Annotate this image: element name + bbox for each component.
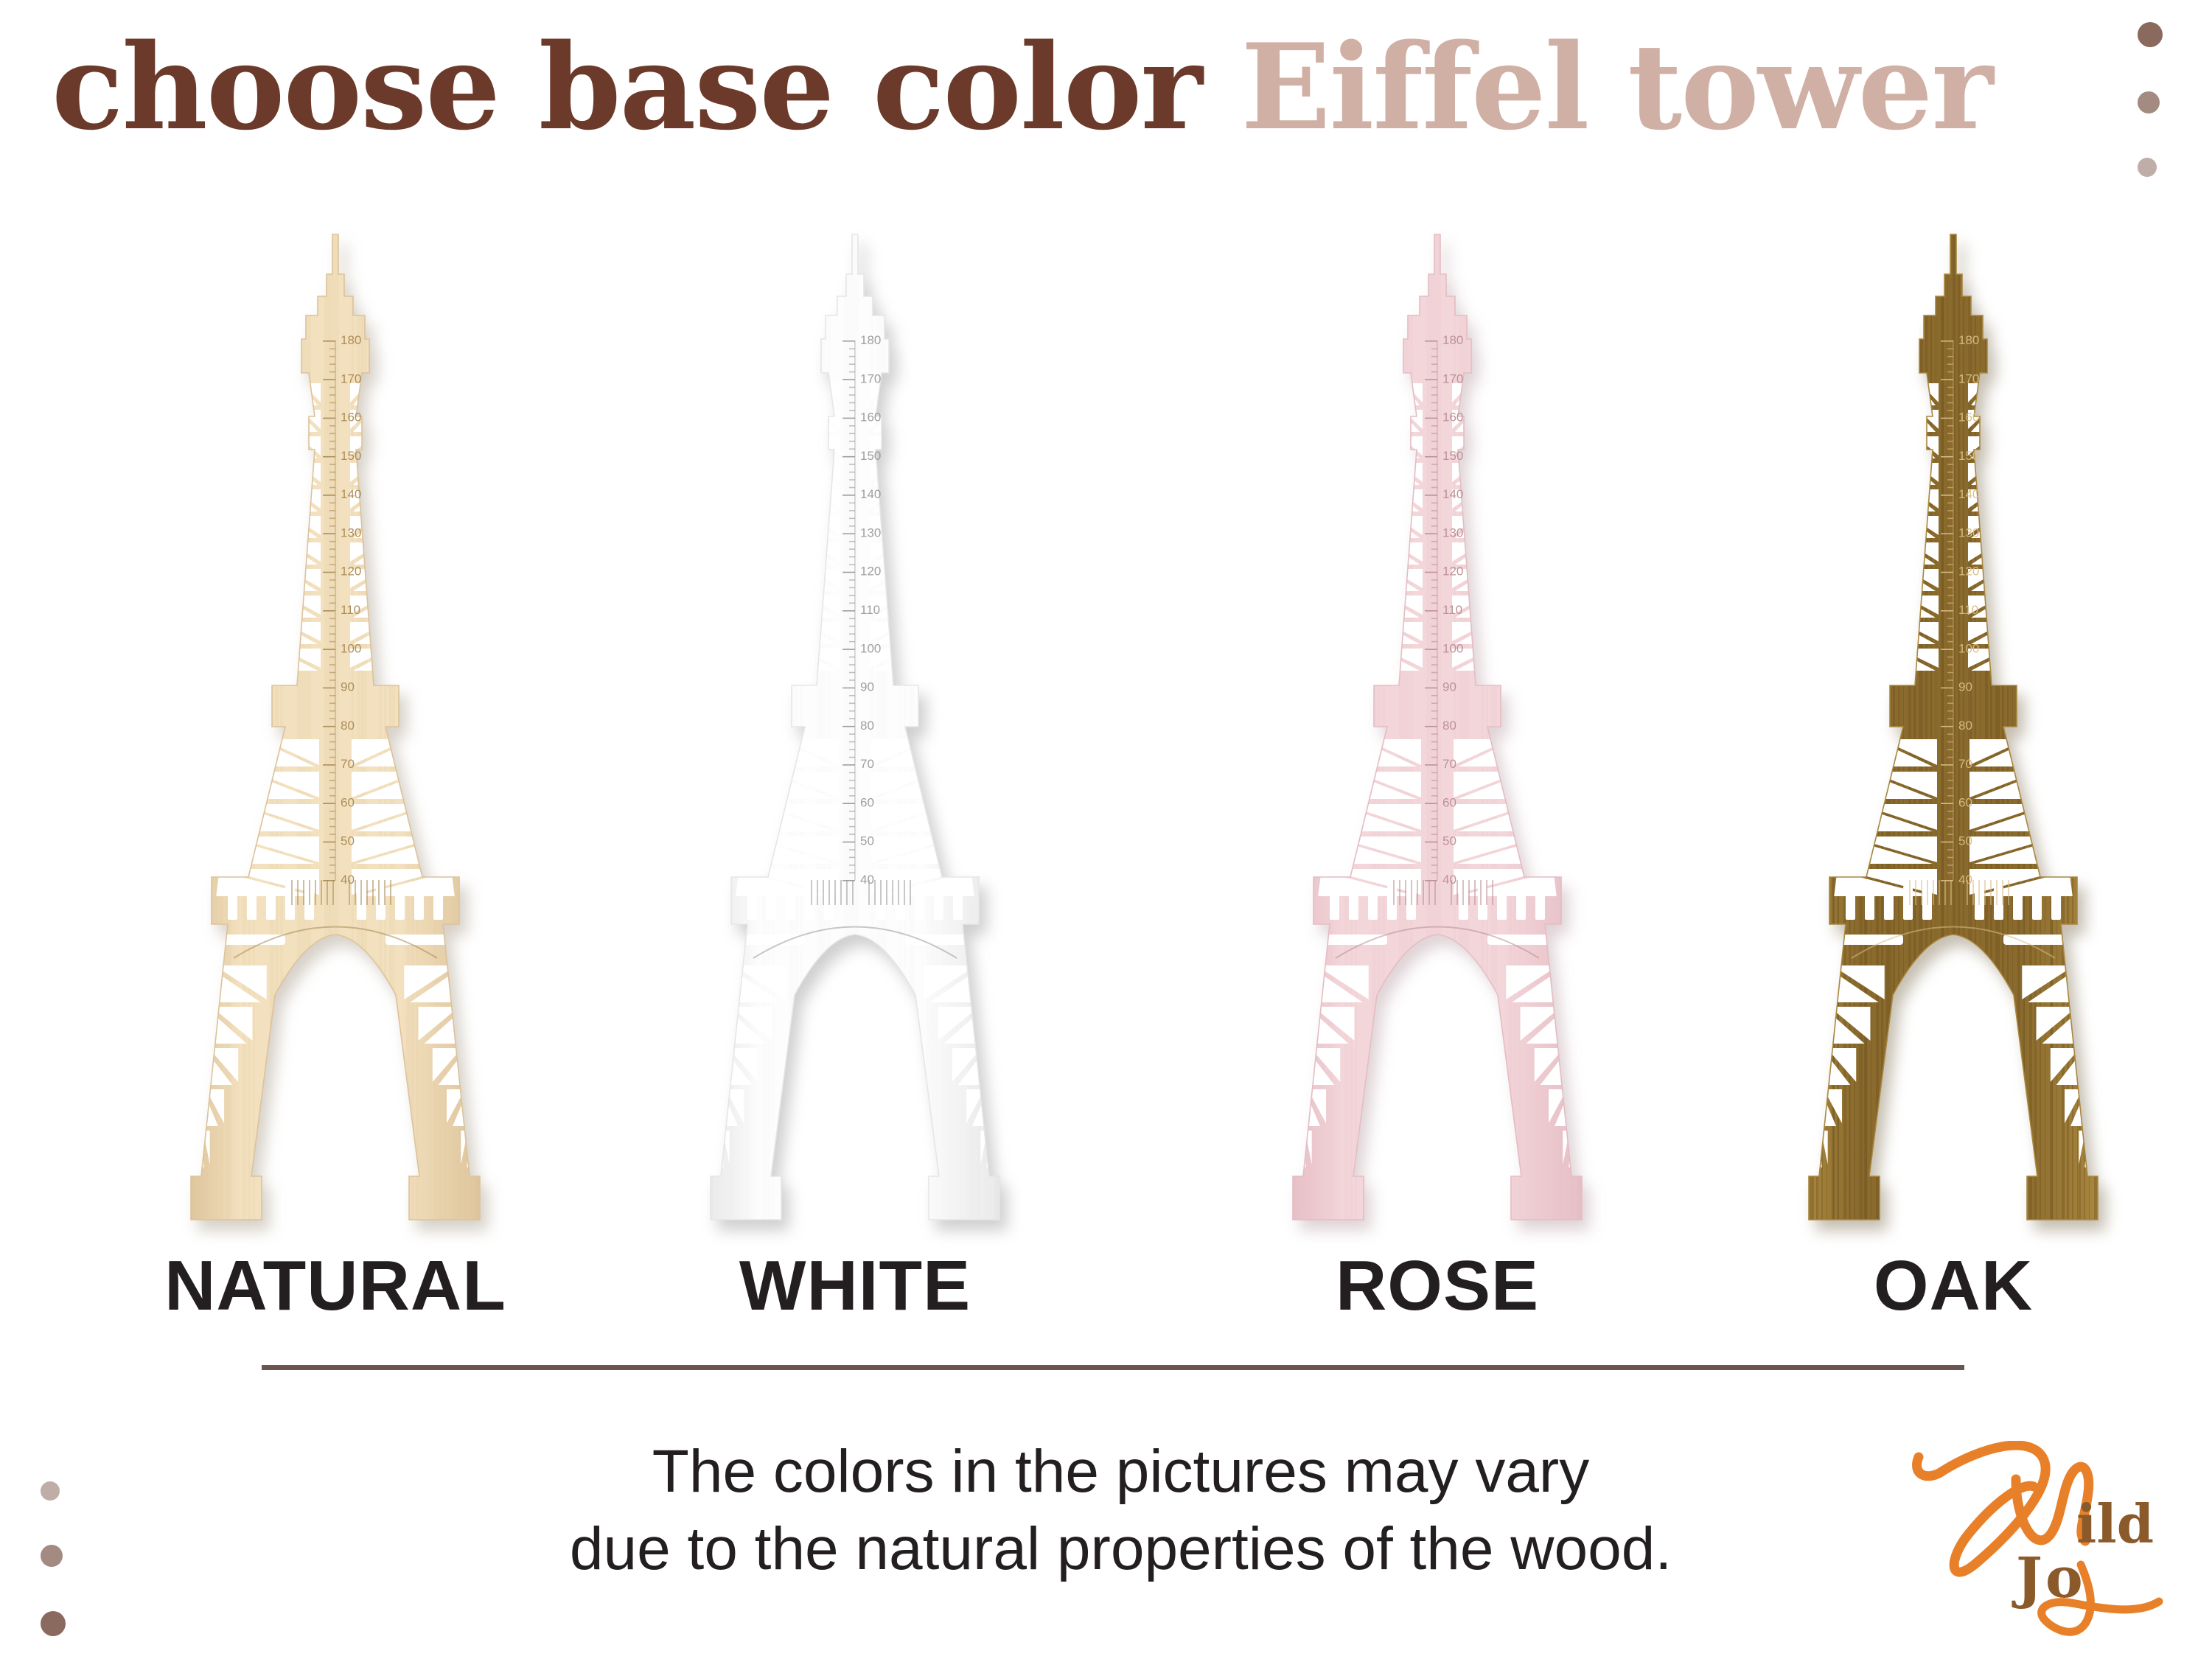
svg-text:60: 60 xyxy=(1442,795,1456,809)
svg-text:50: 50 xyxy=(1958,834,1972,848)
svg-text:100: 100 xyxy=(860,641,881,655)
svg-text:40: 40 xyxy=(1442,873,1456,887)
svg-text:180: 180 xyxy=(341,333,361,347)
svg-text:160: 160 xyxy=(341,411,361,425)
svg-text:100: 100 xyxy=(1442,641,1463,655)
svg-text:90: 90 xyxy=(341,680,355,694)
svg-text:130: 130 xyxy=(860,525,881,539)
svg-text:100: 100 xyxy=(341,641,361,655)
eiffel-tower-rose[interactable]: 180170160150140130120110100908070605040 xyxy=(1209,228,1666,1231)
svg-text:120: 120 xyxy=(1958,565,1979,579)
svg-text:40: 40 xyxy=(860,873,874,887)
svg-text:170: 170 xyxy=(1442,371,1463,385)
page-header: choose base color Eiffel tower xyxy=(0,0,2212,221)
svg-text:90: 90 xyxy=(1442,680,1456,694)
svg-text:170: 170 xyxy=(1958,371,1979,385)
svg-text:150: 150 xyxy=(1442,449,1463,463)
svg-text:50: 50 xyxy=(860,834,874,848)
logo-word-j: J xyxy=(2012,1545,2042,1610)
svg-text:90: 90 xyxy=(1958,680,1972,694)
svg-text:60: 60 xyxy=(341,795,355,809)
svg-text:50: 50 xyxy=(1442,834,1456,848)
svg-text:140: 140 xyxy=(1958,487,1979,501)
svg-text:130: 130 xyxy=(1958,525,1979,539)
svg-text:110: 110 xyxy=(860,603,880,617)
svg-text:80: 80 xyxy=(1442,719,1456,733)
brand-logo: ild J o xyxy=(1905,1441,2200,1655)
page-title: choose base color Eiffel tower xyxy=(52,28,1992,146)
eiffel-tower-oak[interactable]: 180170160150140130120110100908070605040 xyxy=(1725,228,2182,1231)
product-variant-oak[interactable]: 180170160150140130120110100908070605040 xyxy=(1695,228,2211,1231)
eiffel-tower-white[interactable]: 180170160150140130120110100908070605040 xyxy=(627,228,1084,1231)
svg-text:70: 70 xyxy=(860,757,874,771)
title-dark-part: choose base color xyxy=(52,18,1201,156)
svg-text:170: 170 xyxy=(860,371,881,385)
svg-text:160: 160 xyxy=(1442,411,1463,425)
svg-text:70: 70 xyxy=(1442,757,1456,771)
svg-text:140: 140 xyxy=(860,487,881,501)
svg-text:180: 180 xyxy=(1442,333,1463,347)
svg-text:180: 180 xyxy=(1958,333,1979,347)
svg-text:150: 150 xyxy=(1958,449,1979,463)
svg-text:170: 170 xyxy=(341,371,361,385)
disclaimer-line-2: due to the natural properties of the woo… xyxy=(29,1511,2212,1588)
svg-text:60: 60 xyxy=(1958,795,1972,809)
svg-text:140: 140 xyxy=(1442,487,1463,501)
svg-text:160: 160 xyxy=(1958,411,1979,425)
svg-text:50: 50 xyxy=(341,834,355,848)
color-label-rose: ROSE xyxy=(1179,1246,1695,1327)
svg-text:120: 120 xyxy=(860,565,881,579)
product-variant-white[interactable]: 180170160150140130120110100908070605040 xyxy=(597,228,1113,1231)
decorative-dot xyxy=(2138,91,2160,113)
decorative-dots-bottom-left xyxy=(41,1481,100,1651)
decorative-dot xyxy=(41,1481,60,1501)
svg-text:60: 60 xyxy=(860,795,874,809)
decorative-dot xyxy=(41,1545,63,1567)
svg-text:180: 180 xyxy=(860,333,881,347)
svg-text:140: 140 xyxy=(341,487,361,501)
svg-text:120: 120 xyxy=(1442,565,1463,579)
title-light-part: Eiffel tower xyxy=(1241,18,1992,156)
disclaimer-line-1: The colors in the pictures may vary xyxy=(29,1433,2212,1511)
decorative-dot xyxy=(2138,22,2163,47)
product-variant-rose[interactable]: 180170160150140130120110100908070605040 xyxy=(1179,228,1695,1231)
svg-text:130: 130 xyxy=(1442,525,1463,539)
color-label-row: NATURALWHITEROSEOAK xyxy=(0,1246,2212,1341)
svg-text:40: 40 xyxy=(341,873,355,887)
svg-text:150: 150 xyxy=(860,449,881,463)
svg-text:70: 70 xyxy=(341,757,355,771)
disclaimer-text: The colors in the pictures may vary due … xyxy=(0,1433,2212,1588)
svg-text:90: 90 xyxy=(860,680,874,694)
color-label-oak: OAK xyxy=(1695,1246,2211,1327)
wild-joy-logo: ild J o xyxy=(1905,1441,2200,1655)
svg-text:100: 100 xyxy=(1958,641,1979,655)
color-label-white: WHITE xyxy=(597,1246,1113,1327)
product-variant-natural[interactable]: 180170160150140130120110100908070605040 xyxy=(77,228,593,1231)
svg-text:150: 150 xyxy=(341,449,361,463)
svg-text:130: 130 xyxy=(341,525,361,539)
svg-text:80: 80 xyxy=(341,719,355,733)
svg-text:120: 120 xyxy=(341,565,361,579)
svg-text:110: 110 xyxy=(1442,603,1462,617)
logo-word-ild: ild xyxy=(2076,1492,2154,1555)
svg-text:80: 80 xyxy=(860,719,874,733)
decorative-dot xyxy=(2138,158,2157,177)
svg-text:110: 110 xyxy=(1958,603,1978,617)
svg-text:80: 80 xyxy=(1958,719,1972,733)
decorative-dots-top-right xyxy=(2138,22,2197,192)
color-label-natural: NATURAL xyxy=(77,1246,593,1327)
svg-text:110: 110 xyxy=(341,603,360,617)
product-variant-row: 180170160150140130120110100908070605040 … xyxy=(0,228,2212,1231)
svg-text:70: 70 xyxy=(1958,757,1972,771)
section-divider xyxy=(262,1365,1964,1370)
decorative-dot xyxy=(41,1611,66,1636)
svg-text:160: 160 xyxy=(860,411,881,425)
svg-text:40: 40 xyxy=(1958,873,1972,887)
eiffel-tower-natural[interactable]: 180170160150140130120110100908070605040 xyxy=(107,228,564,1231)
